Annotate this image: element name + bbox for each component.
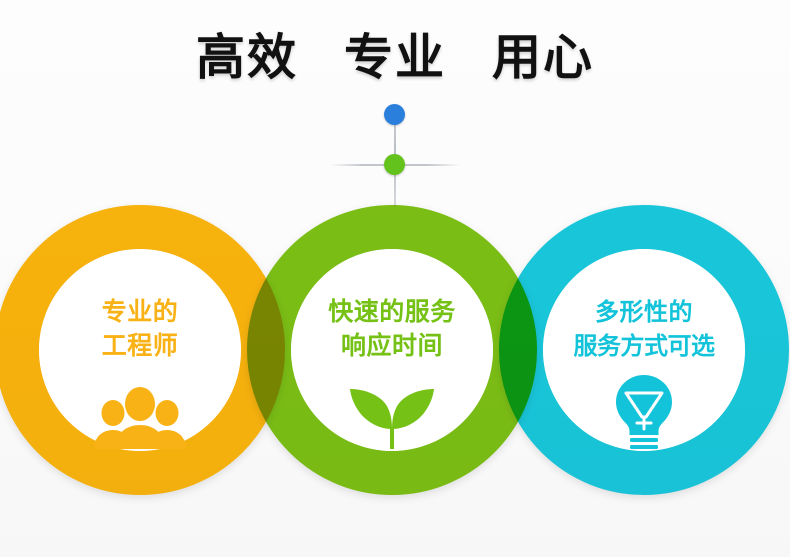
circle-content-service-modes: 多形性的 服务方式可选 [543,249,745,451]
circle-content-response-time: 快速的服务 响应时间 [291,249,493,451]
sprout-leaf-icon [340,383,444,449]
circle-label-response-time-line1: 快速的服务 [291,295,493,329]
circle-label-service-modes-line1: 多形性的 [543,295,745,329]
circle-label-engineers-line1: 专业的 [39,295,241,329]
circle-label-service-modes: 多形性的 服务方式可选 [543,295,745,363]
lightbulb-icon [608,373,680,449]
icon-wrap-service-modes [543,377,745,449]
icon-wrap-engineers [39,377,241,449]
circle-label-engineers: 专业的 工程师 [39,295,241,363]
circle-label-service-modes-line2: 服务方式可选 [543,329,745,363]
circle-label-response-time-line2: 响应时间 [291,329,493,363]
icon-wrap-response-time [291,377,493,449]
circle-content-engineers: 专业的 工程师 [39,249,241,451]
circle-label-engineers-line2: 工程师 [39,329,241,363]
circle-label-response-time: 快速的服务 响应时间 [291,295,493,363]
venn-diagram: 专业的 工程师 快速的服务 [0,0,790,557]
infographic-canvas: 高效专业用心 专业的 工程师 [0,0,790,557]
people-group-icon [92,387,188,449]
